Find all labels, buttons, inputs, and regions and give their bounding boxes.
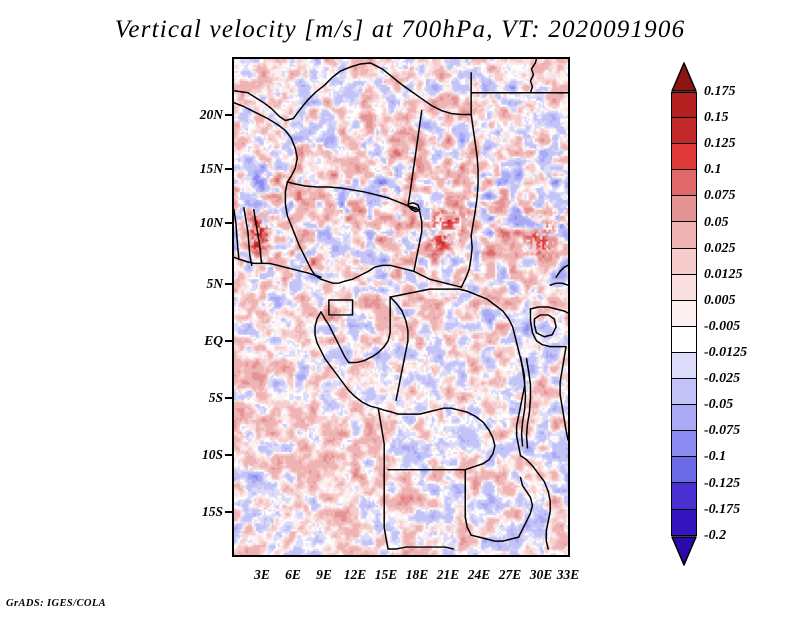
- lon-label-6e: 6E: [285, 567, 301, 583]
- country-borders-overlay: [234, 59, 568, 555]
- colorbar-band: [671, 483, 697, 509]
- page-title: Vertical velocity [m/s] at 700hPa, VT: 2…: [0, 16, 800, 44]
- colorbar-bands: [671, 92, 697, 536]
- colorbar-band: [671, 144, 697, 170]
- colorbar: 0.1750.150.1250.10.0750.050.0250.01250.0…: [671, 62, 793, 550]
- map-plot-area: [232, 57, 570, 557]
- colorbar-tick-label: 0.1: [704, 162, 722, 178]
- colorbar-band: [671, 405, 697, 431]
- colorbar-tick-label: -0.05: [704, 397, 733, 413]
- colorbar-tick-label: -0.0125: [704, 345, 747, 361]
- lat-tick-10n: [225, 222, 232, 224]
- lon-label-21e: 21E: [437, 567, 460, 583]
- lat-label-10n: 10N: [200, 215, 223, 231]
- lon-label-27e: 27E: [499, 567, 522, 583]
- lat-label-5n: 5N: [207, 276, 224, 292]
- lat-label-10s: 10S: [202, 447, 223, 463]
- colorbar-over-arrow: [671, 62, 697, 92]
- colorbar-tick-label: 0.005: [704, 293, 736, 309]
- lat-label-5s: 5S: [209, 390, 223, 406]
- colorbar-tick-label: -0.1: [704, 449, 726, 465]
- lat-tick-20n: [225, 114, 232, 116]
- colorbar-tick-label: -0.125: [704, 476, 740, 492]
- lat-tick-15n: [225, 168, 232, 170]
- colorbar-band: [671, 301, 697, 327]
- map-panel: 20N 15N 10N 5N EQ 5S 10S 15S 3E 6E 9E 12…: [232, 57, 570, 557]
- colorbar-band: [671, 196, 697, 222]
- lon-label-12e: 12E: [344, 567, 367, 583]
- colorbar-band: [671, 275, 697, 301]
- colorbar-band: [671, 249, 697, 275]
- colorbar-band: [671, 170, 697, 196]
- lat-label-20n: 20N: [200, 107, 223, 123]
- colorbar-tick-label: 0.025: [704, 241, 736, 257]
- colorbar-tick-label: -0.2: [704, 528, 726, 544]
- lat-label-15n: 15N: [200, 161, 223, 177]
- colorbar-band: [671, 327, 697, 353]
- colorbar-band: [671, 222, 697, 248]
- colorbar-band: [671, 379, 697, 405]
- colorbar-under-arrow: [671, 536, 697, 566]
- colorbar-band: [671, 353, 697, 379]
- lat-tick-10s: [225, 454, 232, 456]
- lon-label-3e: 3E: [254, 567, 270, 583]
- colorbar-tick-label: 0.125: [704, 136, 736, 152]
- lon-label-30e: 30E: [530, 567, 553, 583]
- lon-label-24e: 24E: [468, 567, 491, 583]
- colorbar-tick-label: 0.15: [704, 110, 729, 126]
- lat-label-eq: EQ: [204, 333, 223, 349]
- colorbar-tick-label: 0.075: [704, 188, 736, 204]
- lat-tick-15s: [225, 511, 232, 513]
- lat-tick-5s: [225, 397, 232, 399]
- lon-label-33e: 33E: [557, 567, 580, 583]
- colorbar-tick-label: -0.005: [704, 319, 740, 335]
- colorbar-band: [671, 510, 697, 536]
- colorbar-tick-label: -0.075: [704, 423, 740, 439]
- colorbar-band: [671, 118, 697, 144]
- colorbar-band: [671, 457, 697, 483]
- colorbar-tick-label: -0.025: [704, 371, 740, 387]
- colorbar-band: [671, 92, 697, 118]
- colorbar-tick-label: -0.175: [704, 502, 740, 518]
- colorbar-tick-label: 0.05: [704, 215, 729, 231]
- colorbar-tick-label: 0.0125: [704, 267, 743, 283]
- colorbar-tick-label: 0.175: [704, 84, 736, 100]
- colorbar-band: [671, 431, 697, 457]
- credit-text: GrADS: IGES/COLA: [6, 598, 106, 609]
- lon-label-18e: 18E: [406, 567, 429, 583]
- lat-tick-5n: [225, 283, 232, 285]
- lon-label-9e: 9E: [316, 567, 332, 583]
- lat-tick-eq: [225, 340, 232, 342]
- lat-label-15s: 15S: [202, 504, 223, 520]
- lon-label-15e: 15E: [375, 567, 398, 583]
